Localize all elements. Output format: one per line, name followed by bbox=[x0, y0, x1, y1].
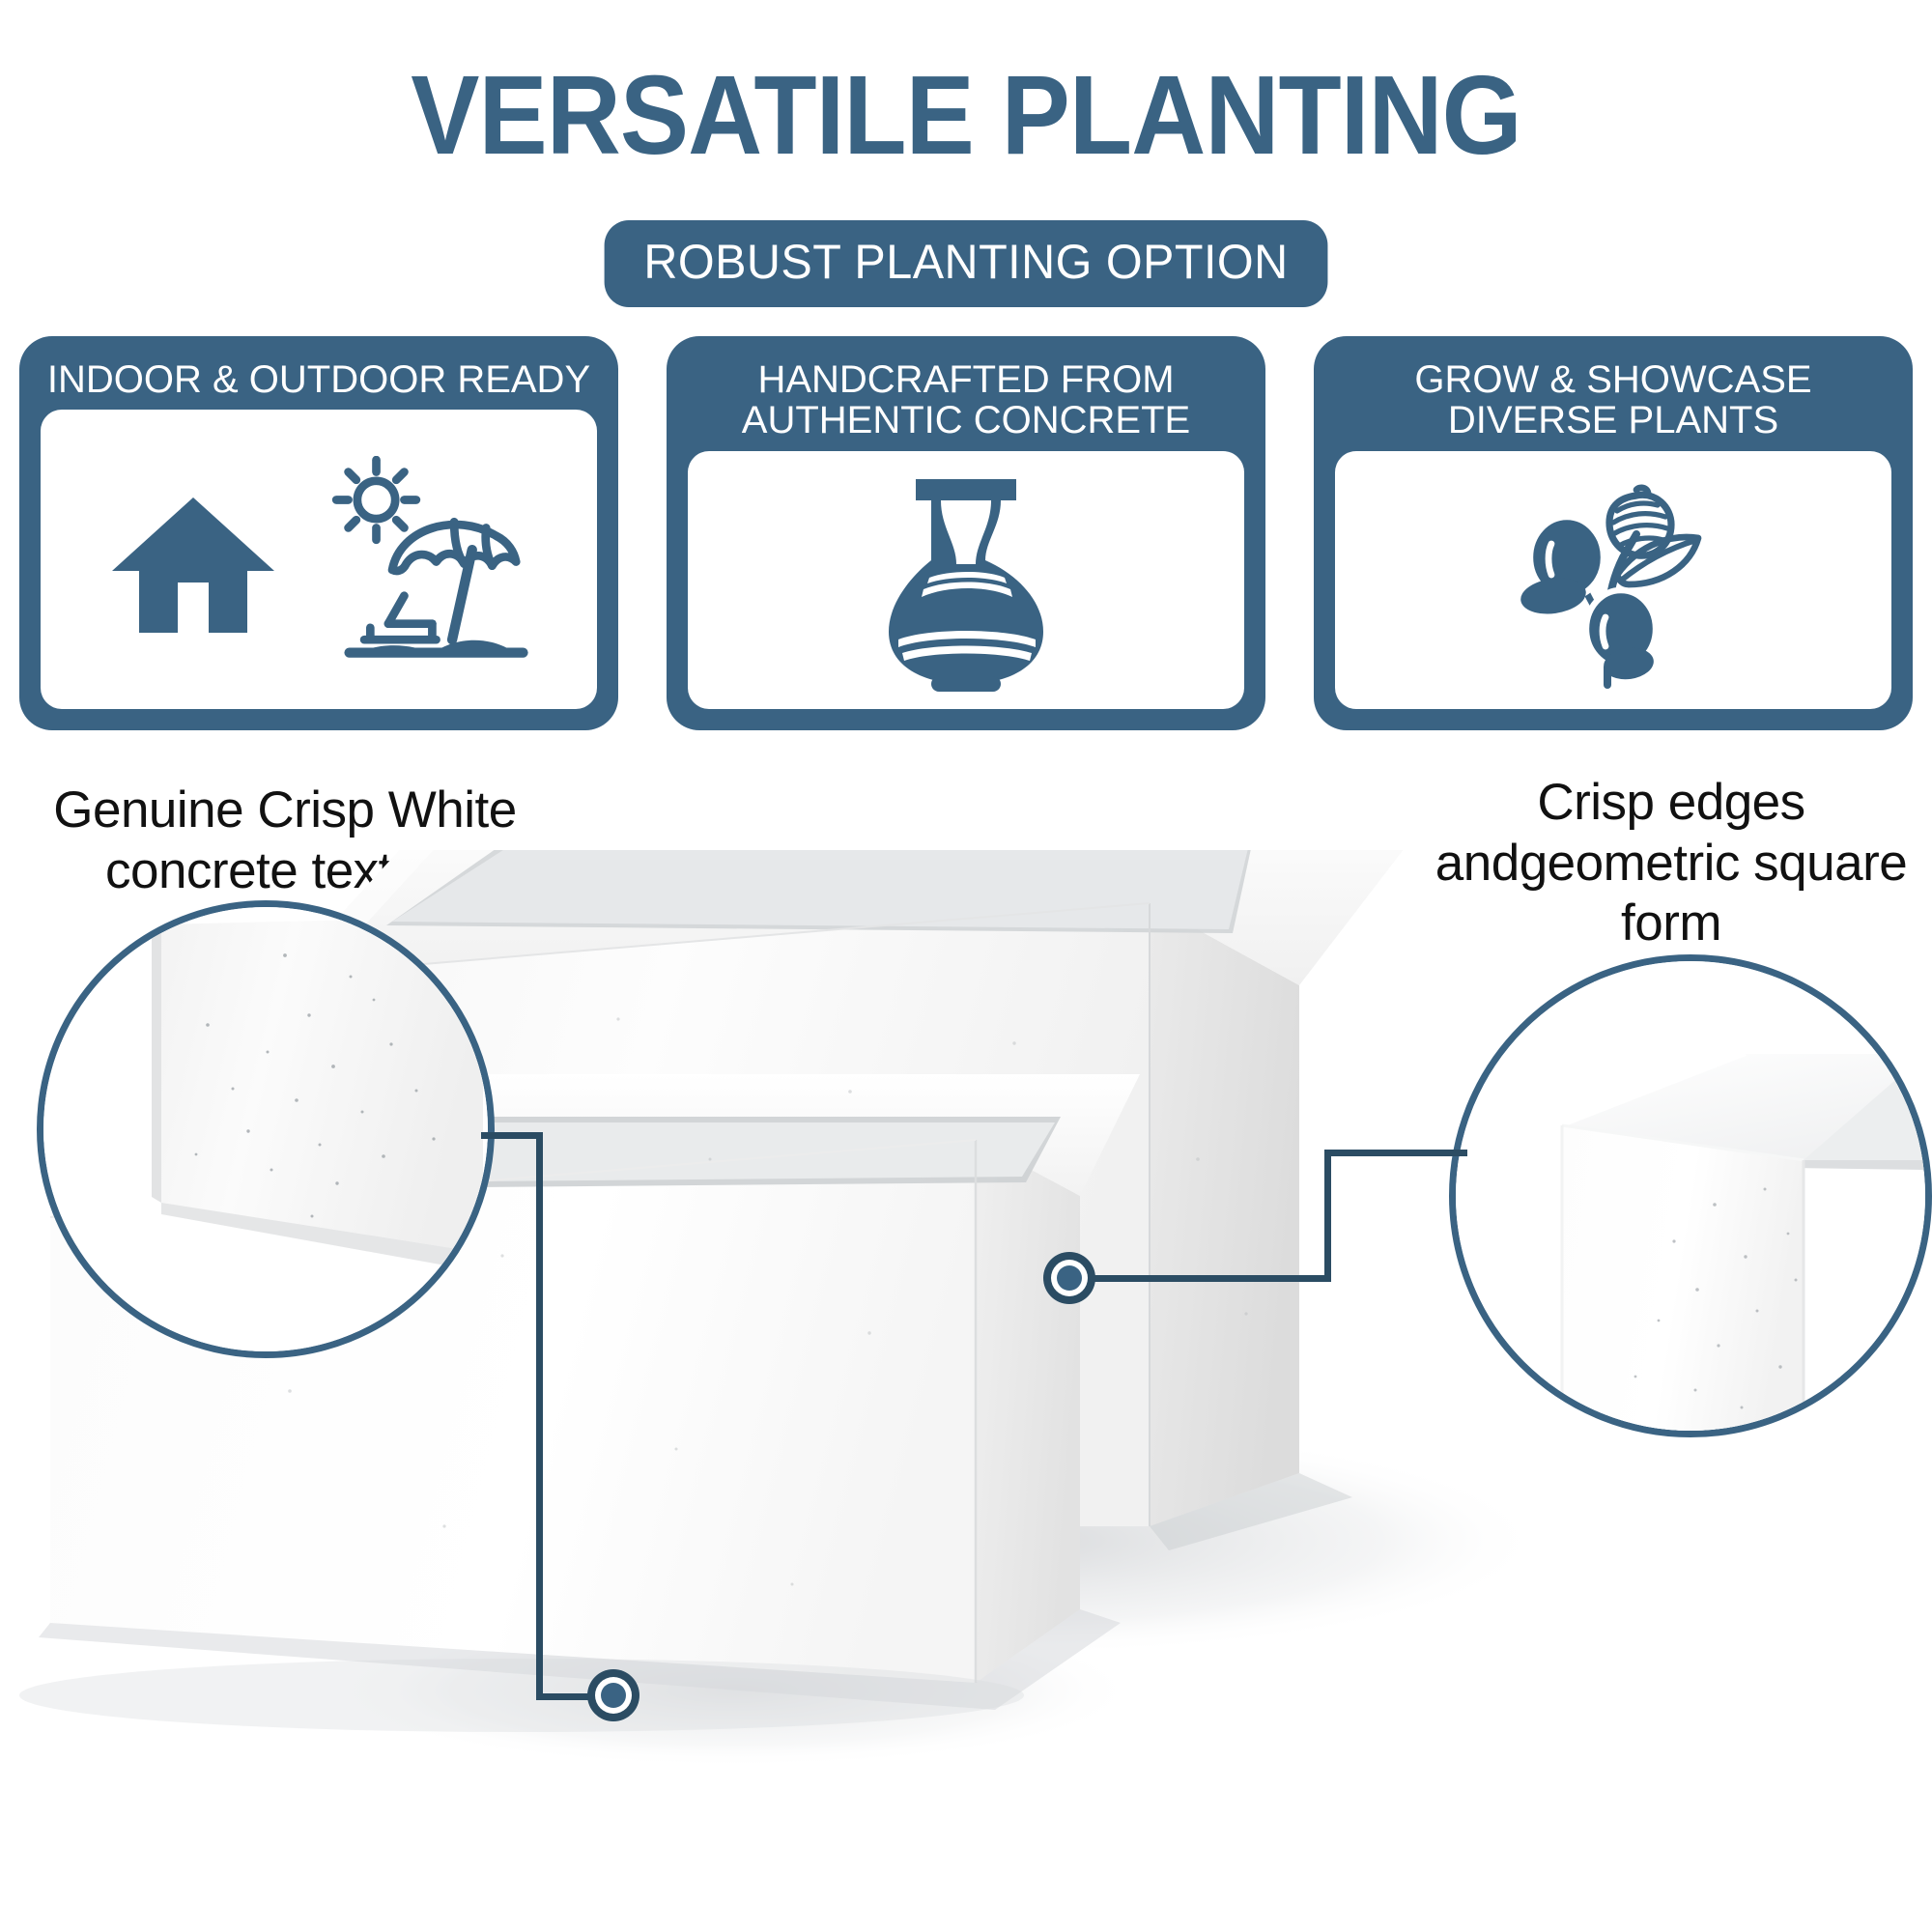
connector-dot-left bbox=[587, 1669, 639, 1721]
feature-card-icon-panel bbox=[41, 410, 597, 709]
feature-card-title: HANDCRAFTED FROM AUTHENTIC CONCRETE bbox=[688, 354, 1244, 451]
berry-branch-icon bbox=[1497, 465, 1729, 695]
beach-umbrella-icon bbox=[299, 456, 541, 664]
feature-cards-row: INDOOR & OUTDOOR READY bbox=[19, 336, 1913, 732]
connector-line-left-vertical bbox=[536, 1132, 543, 1700]
feature-card-indoor-outdoor: INDOOR & OUTDOOR READY bbox=[19, 336, 618, 730]
connector-line-right-horizontal-top bbox=[1324, 1150, 1467, 1156]
magnifier-concrete-texture bbox=[37, 900, 495, 1358]
connector-line-right-vertical bbox=[1324, 1150, 1331, 1282]
connector-dot-right bbox=[1043, 1252, 1095, 1304]
connector-line-right-horizontal-bottom bbox=[1090, 1275, 1331, 1282]
page-title: VERSATILE PLANTING bbox=[77, 50, 1855, 180]
feature-card-icon-panel bbox=[688, 451, 1244, 709]
infographic-page: VERSATILE PLANTING ROBUST PLANTING OPTIO… bbox=[0, 0, 1932, 1932]
vase-icon bbox=[866, 468, 1066, 692]
subtitle-badge: ROBUST PLANTING OPTION bbox=[605, 220, 1328, 307]
magnifier-crisp-edge bbox=[1449, 954, 1932, 1437]
feature-card-title: GROW & SHOWCASE DIVERSE PLANTS bbox=[1335, 354, 1891, 451]
feature-card-icon-panel bbox=[1335, 451, 1891, 709]
feature-card-handcrafted-concrete: HANDCRAFTED FROM AUTHENTIC CONCRETE bbox=[667, 336, 1265, 730]
feature-card-grow-showcase: GROW & SHOWCASE DIVERSE PLANTS bbox=[1314, 336, 1913, 730]
house-icon bbox=[97, 463, 290, 656]
connector-line-left-horizontal-top bbox=[481, 1132, 543, 1139]
feature-card-title: INDOOR & OUTDOOR READY bbox=[41, 354, 597, 410]
